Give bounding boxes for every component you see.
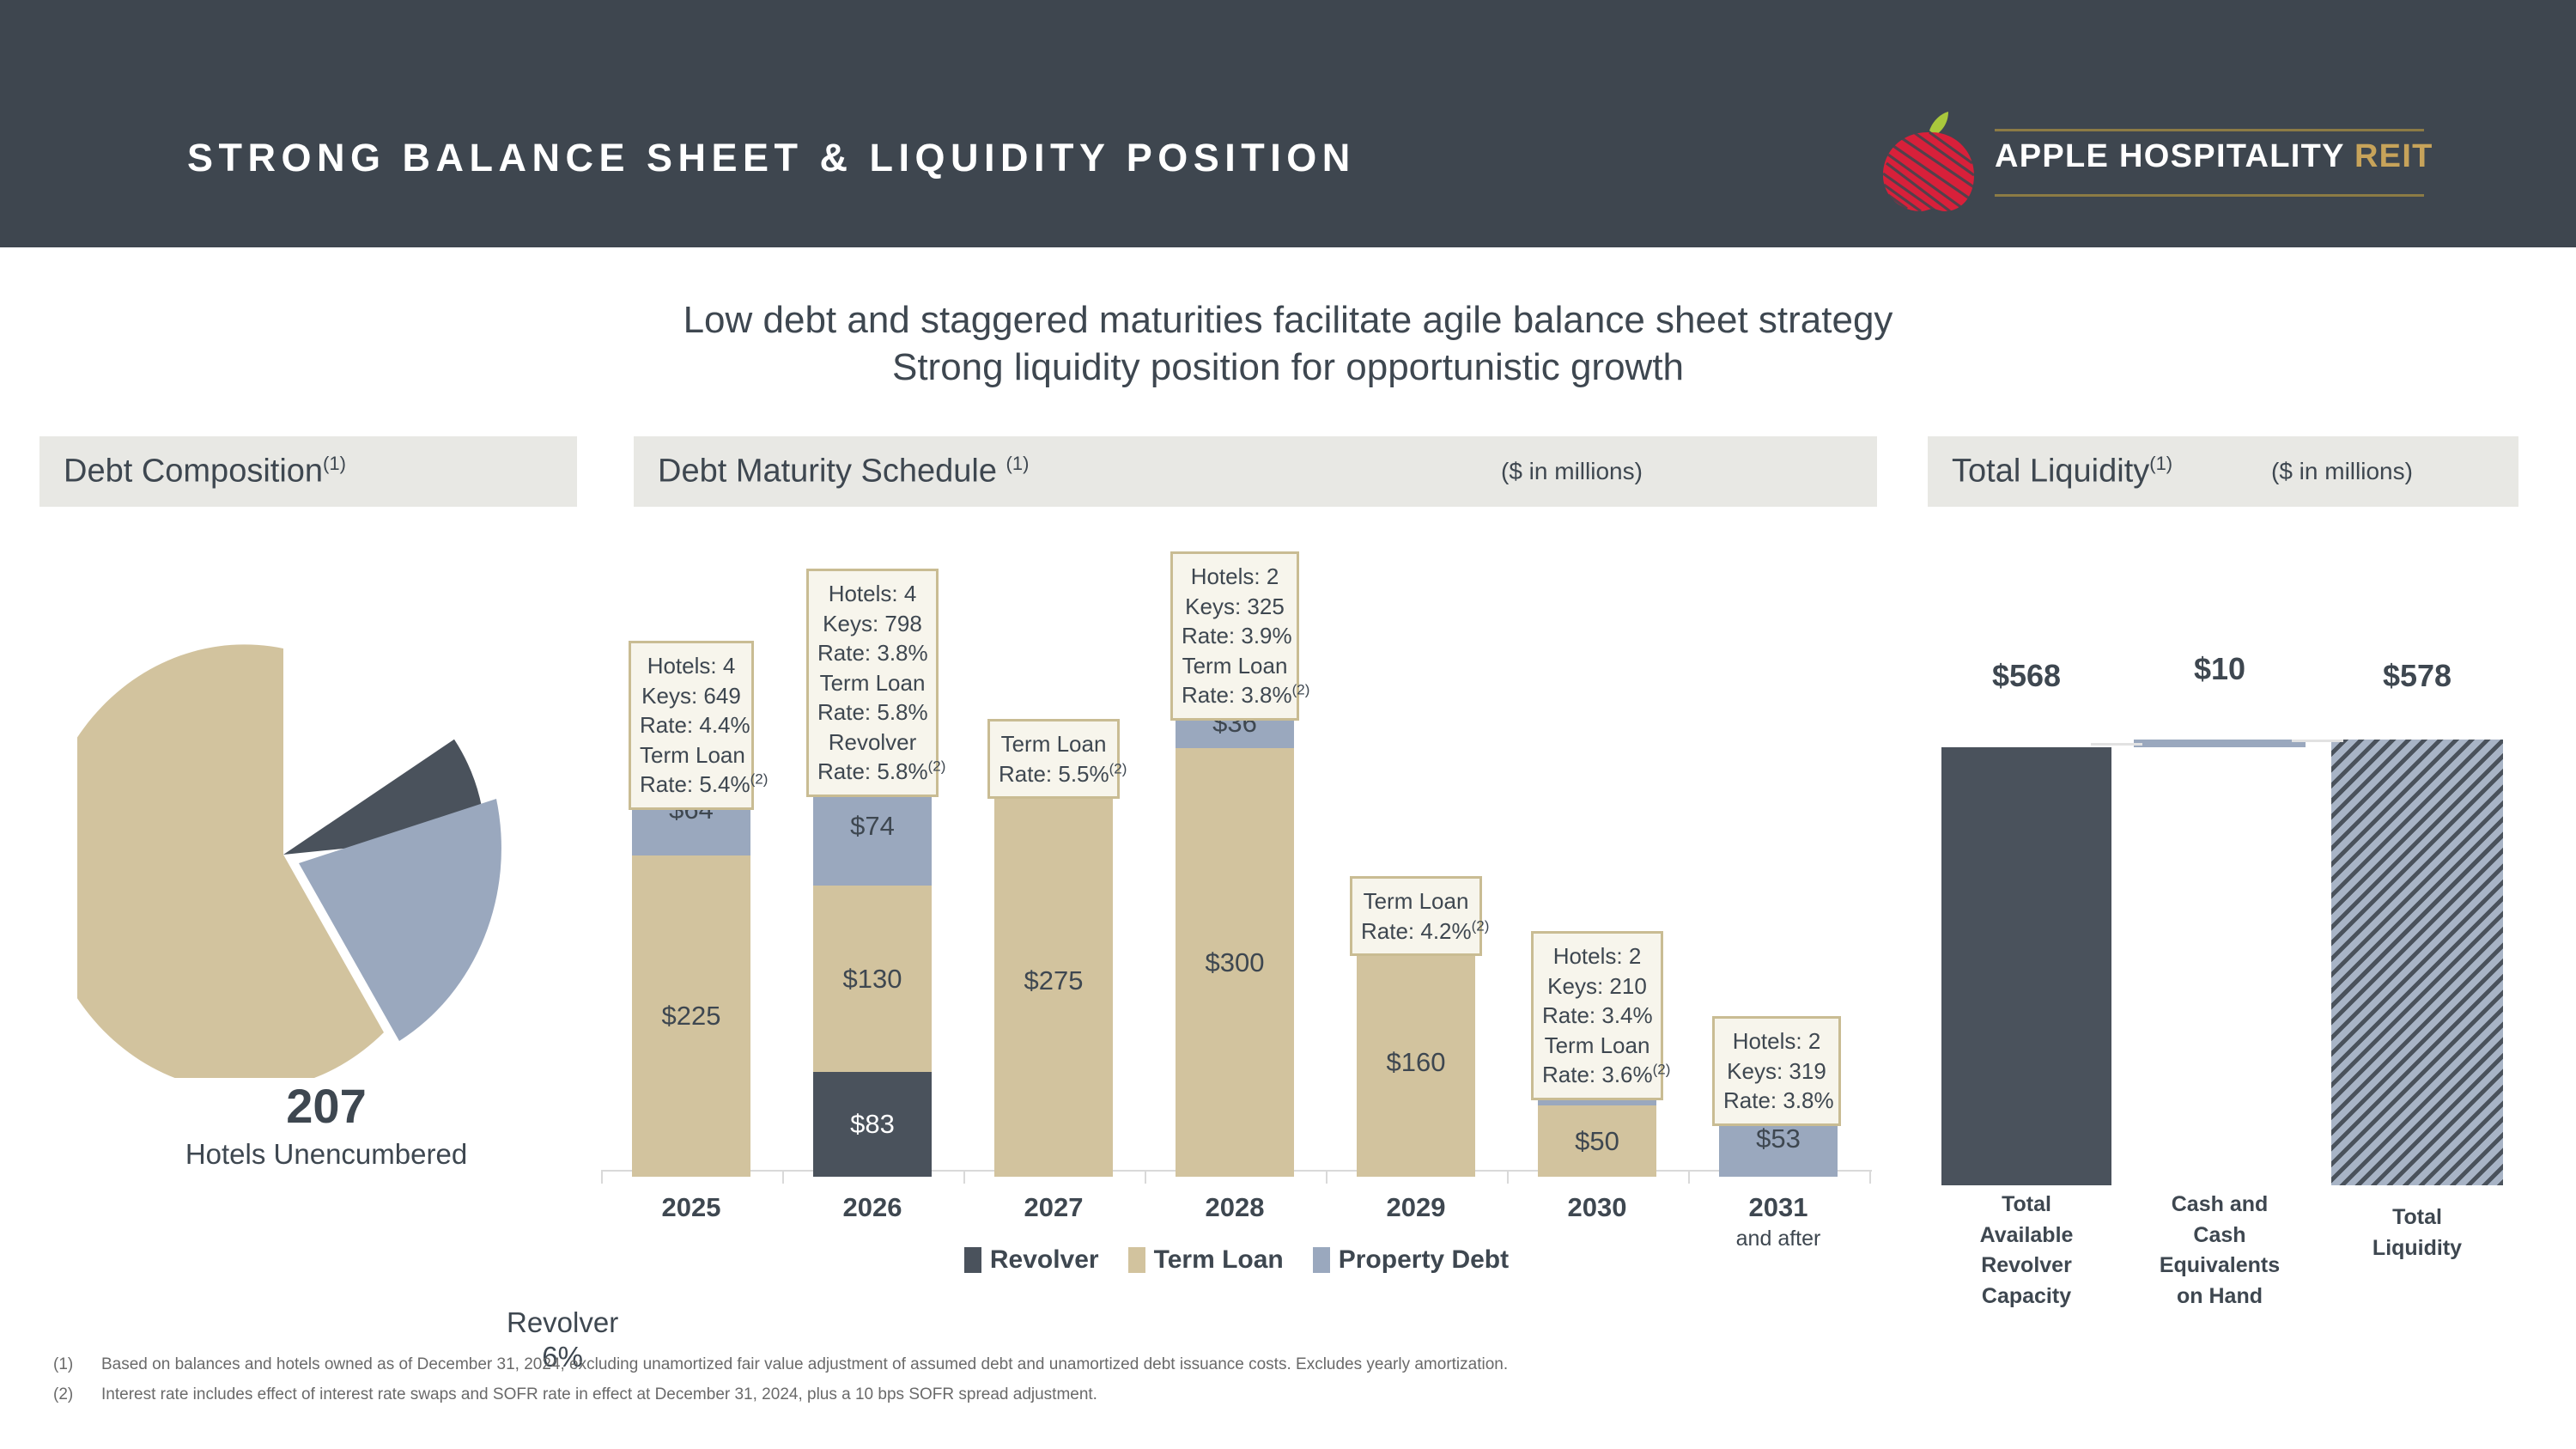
liquidity-x-label-total-liquidity: Total Liquidity bbox=[2331, 1202, 2503, 1263]
footnote-1: (1) Based on balances and hotels owned a… bbox=[53, 1355, 2286, 1374]
liquidity-connector-1 bbox=[2091, 743, 2142, 746]
panel-title-debt-maturity: Debt Maturity Schedule (1) bbox=[658, 453, 1029, 490]
footnote-2-mark: (2) bbox=[53, 1385, 101, 1404]
apple-logo-icon bbox=[1876, 112, 1979, 213]
liquidity-bar-total-available-revolver-capacity bbox=[1941, 747, 2111, 1185]
x-axis-label-2031: 2031 and after bbox=[1697, 1192, 1860, 1251]
logo-name-main: APPLE HOSPITALITY bbox=[1995, 138, 2344, 174]
bar-column-2029: $160 bbox=[1357, 948, 1475, 1177]
legend-swatch-term-loan-icon bbox=[1128, 1247, 1145, 1273]
bar-column-2025: $64 $225 bbox=[632, 764, 750, 1177]
total-liquidity-waterfall-chart: $568 $10 $578 bbox=[1928, 704, 2529, 1185]
bar-segment-2026-term-loan: $130 bbox=[813, 886, 932, 1072]
pie-svg bbox=[77, 631, 507, 1078]
panel-title-debt-composition: Debt Composition(1) bbox=[64, 453, 346, 490]
panel-header-total-liquidity: Total Liquidity(1) ($ in millions) bbox=[1928, 436, 2518, 507]
legend-swatch-revolver-icon bbox=[964, 1247, 981, 1273]
liquidity-value-10: $10 bbox=[2134, 651, 2306, 687]
callout-2027: Term Loan Rate: 5.5%(2) bbox=[987, 719, 1120, 799]
footnote-1-text: Based on balances and hotels owned as of… bbox=[101, 1355, 2286, 1374]
company-logo: APPLE HOSPITALITY REIT bbox=[1876, 101, 2426, 217]
footnote-2: (2) Interest rate includes effect of int… bbox=[53, 1385, 2286, 1404]
footnote-ref-2: (2) bbox=[1472, 917, 1490, 934]
bar-segment-2025-term-loan: $225 bbox=[632, 855, 750, 1177]
footnote-ref-2: (2) bbox=[1653, 1062, 1671, 1078]
bar-segment-2029-term-loan: $160 bbox=[1357, 948, 1475, 1177]
x-axis-label-2027: 2027 bbox=[972, 1192, 1135, 1223]
x-axis-label-2026: 2026 bbox=[791, 1192, 954, 1223]
callout-2028: Hotels: 2 Keys: 325 Rate: 3.9% Term Loan… bbox=[1170, 551, 1299, 721]
liquidity-x-label-revolver-capacity: Total Available Revolver Capacity bbox=[1941, 1190, 2111, 1312]
hotels-unencumbered-count: 207 bbox=[52, 1078, 601, 1134]
liquidity-bar-total-liquidity bbox=[2331, 740, 2503, 1185]
slide-header: STRONG BALANCE SHEET & LIQUIDITY POSITIO… bbox=[0, 0, 2576, 247]
liquidity-bar-cash-and-cash-equivalents bbox=[2134, 740, 2306, 747]
footnote-ref-1: (1) bbox=[1006, 453, 1030, 474]
logo-name-accent: REIT bbox=[2354, 138, 2433, 174]
hotels-unencumbered-label: Hotels Unencumbered bbox=[52, 1138, 601, 1171]
slide-root: STRONG BALANCE SHEET & LIQUIDITY POSITIO… bbox=[0, 0, 2576, 1449]
footnote-ref-1: (1) bbox=[323, 453, 346, 474]
bar-chart-legend: Revolver Term Loan Property Debt bbox=[601, 1245, 1872, 1275]
footnote-ref-2: (2) bbox=[928, 758, 946, 775]
footnote-2-text: Interest rate includes effect of interes… bbox=[101, 1385, 2286, 1404]
page-title: STRONG BALANCE SHEET & LIQUIDITY POSITIO… bbox=[187, 136, 1356, 180]
callout-2029: Term Loan Rate: 4.2%(2) bbox=[1350, 876, 1482, 956]
x-axis-label-2029: 2029 bbox=[1334, 1192, 1498, 1223]
x-axis-label-2028: 2028 bbox=[1153, 1192, 1316, 1223]
liquidity-value-578: $578 bbox=[2331, 658, 2503, 694]
x-axis-label-2030: 2030 bbox=[1516, 1192, 1679, 1223]
subtitle-line-2: Strong liquidity position for opportunis… bbox=[0, 344, 2576, 391]
panel-header-debt-maturity: Debt Maturity Schedule (1) ($ in million… bbox=[634, 436, 1877, 507]
legend-item-revolver: Revolver bbox=[964, 1245, 1099, 1275]
bar-column-2028: $36 $300 bbox=[1176, 697, 1294, 1177]
liquidity-connector-2 bbox=[2292, 740, 2343, 742]
panel-header-debt-composition: Debt Composition(1) bbox=[39, 436, 577, 507]
subtitle-line-1: Low debt and staggered maturities facili… bbox=[0, 296, 2576, 344]
callout-2026: Hotels: 4 Keys: 798 Rate: 3.8% Term Loan… bbox=[806, 569, 939, 797]
footnote-ref-2: (2) bbox=[750, 771, 769, 788]
footnote-ref-2: (2) bbox=[1109, 760, 1127, 776]
callout-2025: Hotels: 4 Keys: 649 Rate: 4.4% Term Loan… bbox=[629, 641, 754, 810]
footnotes: (1) Based on balances and hotels owned a… bbox=[53, 1355, 2286, 1416]
logo-rule-top bbox=[1995, 129, 2424, 131]
legend-item-term-loan: Term Loan bbox=[1128, 1245, 1284, 1275]
footnote-1-mark: (1) bbox=[53, 1355, 101, 1374]
legend-item-property-debt: Property Debt bbox=[1313, 1245, 1509, 1275]
bar-segment-2027-term-loan: $275 bbox=[994, 784, 1113, 1177]
bar-segment-2026-revolver: $83 bbox=[813, 1072, 932, 1177]
bar-column-2027: $275 bbox=[994, 784, 1113, 1177]
bar-column-2026: $74 $130 $83 bbox=[813, 767, 932, 1177]
logo-rule-bottom bbox=[1995, 194, 2424, 197]
debt-maturity-bar-chart: $64 $225 $74 $130 $83 $275 $36 $300 $160… bbox=[601, 541, 1889, 1177]
liquidity-x-label-cash-equivalents: Cash and Cash Equivalents on Hand bbox=[2134, 1190, 2306, 1312]
panel-title-total-liquidity: Total Liquidity(1) bbox=[1952, 453, 2172, 490]
legend-swatch-property-debt-icon bbox=[1313, 1247, 1330, 1273]
callout-2031: Hotels: 2 Keys: 319 Rate: 3.8% bbox=[1712, 1016, 1841, 1126]
x-axis-label-2025: 2025 bbox=[610, 1192, 773, 1223]
footnote-ref-2: (2) bbox=[1292, 682, 1310, 698]
panel-units-debt-maturity: ($ in millions) bbox=[1501, 458, 1643, 485]
logo-wordmark: APPLE HOSPITALITY REIT bbox=[1995, 138, 2424, 175]
panel-units-total-liquidity: ($ in millions) bbox=[2271, 458, 2413, 485]
slide-subtitle: Low debt and staggered maturities facili… bbox=[0, 296, 2576, 392]
footnote-ref-1: (1) bbox=[2149, 453, 2172, 474]
bar-segment-2028-term-loan: $300 bbox=[1176, 748, 1294, 1177]
liquidity-value-568: $568 bbox=[1941, 658, 2111, 694]
callout-2030: Hotels: 2 Keys: 210 Rate: 3.4% Term Loan… bbox=[1531, 931, 1663, 1100]
bar-segment-2030-term-loan: $50 bbox=[1538, 1105, 1656, 1177]
